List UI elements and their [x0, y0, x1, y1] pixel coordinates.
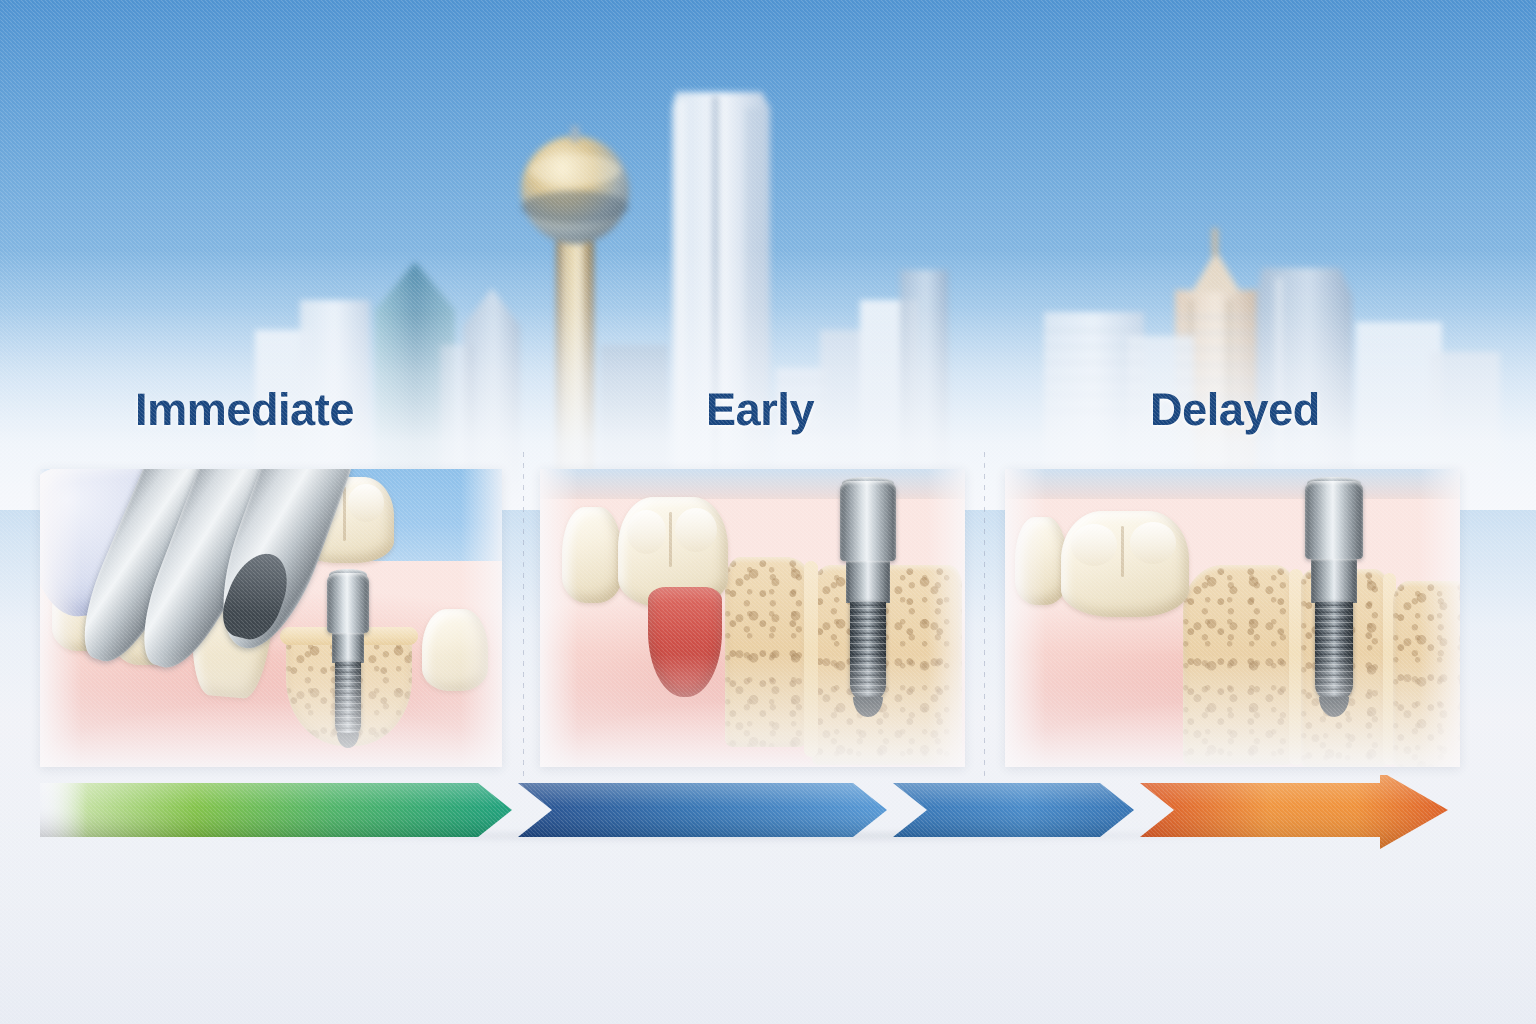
panel-edge-fade	[540, 469, 965, 767]
timeline-segment-delayed[interactable]	[1140, 775, 1448, 849]
illustration-panel-immediate	[40, 469, 502, 767]
illustration-panel-early	[540, 469, 965, 767]
panel-divider	[523, 452, 524, 782]
timeline-segment-immediate[interactable]	[40, 783, 512, 837]
treatment-timing-arrow	[0, 775, 1536, 853]
timeline-segment-early-1[interactable]	[518, 783, 887, 837]
panel-divider	[984, 452, 985, 782]
illustration-panel-delayed	[1005, 469, 1460, 767]
stage-label-delayed: Delayed	[1150, 384, 1320, 436]
timeline-segment-early-2[interactable]	[893, 783, 1134, 837]
stage-label-early: Early	[706, 384, 814, 436]
stage-label-immediate: Immediate	[135, 384, 354, 436]
infographic-canvas: Immediate Early Delayed	[0, 0, 1536, 1024]
panel-edge-fade	[40, 469, 502, 767]
panel-edge-fade	[1005, 469, 1460, 767]
